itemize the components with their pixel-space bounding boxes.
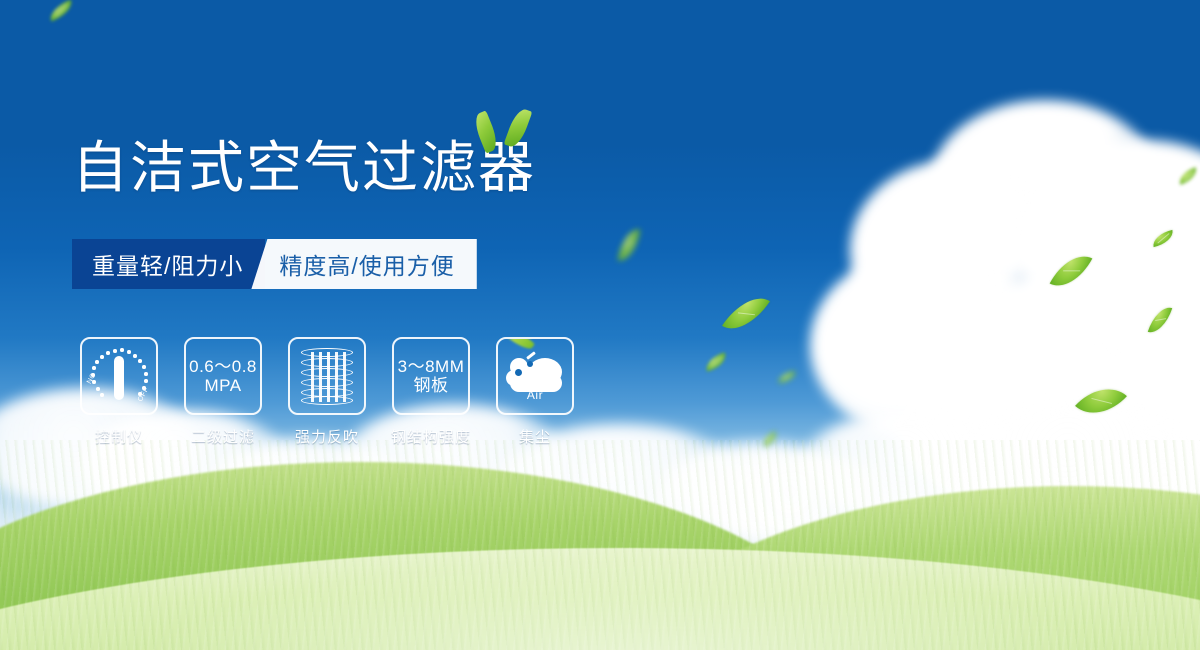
feature-list: NO OFF 控制仪 0.6～0.8 MPA 二级过滤 bbox=[80, 337, 574, 447]
feature-item-dust[interactable]: Air 集尘 bbox=[496, 337, 574, 447]
banner-content: 自洁式空气过滤器 重量轻/阻力小 精度高/使用方便 bbox=[0, 0, 1200, 650]
feature-label: 二级过滤 bbox=[191, 426, 255, 447]
feature-item-pressure[interactable]: 0.6～0.8 MPA 二级过滤 bbox=[184, 337, 262, 447]
feature-icon-box: NO OFF bbox=[80, 337, 158, 415]
feature-icon-box bbox=[288, 337, 366, 415]
subtitle-badges: 重量轻/阻力小 精度高/使用方便 bbox=[72, 239, 477, 289]
feature-label: 钢结构强度 bbox=[391, 426, 471, 447]
filter-stack-icon bbox=[301, 348, 353, 404]
subtitle-badge-secondary: 精度高/使用方便 bbox=[251, 239, 476, 289]
steel-text-icon: 3～8MM 钢板 bbox=[398, 357, 465, 395]
air-cloud-icon: Air bbox=[504, 348, 566, 404]
title-block: 自洁式空气过滤器 bbox=[72, 140, 536, 196]
feature-item-blowback[interactable]: 强力反吹 bbox=[288, 337, 366, 447]
pressure-text-icon: 0.6～0.8 MPA bbox=[189, 357, 257, 395]
feature-icon-box: Air bbox=[496, 337, 574, 415]
feature-label: 集尘 bbox=[519, 426, 551, 447]
gauge-no-label: NO bbox=[86, 372, 98, 385]
air-label: Air bbox=[504, 388, 566, 402]
page-title: 自洁式空气过滤器 bbox=[72, 140, 536, 196]
subtitle-badge-primary: 重量轻/阻力小 bbox=[72, 239, 265, 289]
feature-label: 强力反吹 bbox=[295, 426, 359, 447]
feature-icon-box: 0.6～0.8 MPA bbox=[184, 337, 262, 415]
sprout-leaves-icon bbox=[472, 108, 552, 156]
gauge-off-label: OFF bbox=[137, 386, 150, 403]
hero-banner: 自洁式空气过滤器 重量轻/阻力小 精度高/使用方便 bbox=[0, 0, 1200, 650]
feature-item-steel[interactable]: 3～8MM 钢板 钢结构强度 bbox=[392, 337, 470, 447]
feature-item-control[interactable]: NO OFF 控制仪 bbox=[80, 337, 158, 447]
feature-icon-box: 3～8MM 钢板 bbox=[392, 337, 470, 415]
feature-label: 控制仪 bbox=[95, 426, 143, 447]
gauge-icon: NO OFF bbox=[87, 344, 151, 408]
